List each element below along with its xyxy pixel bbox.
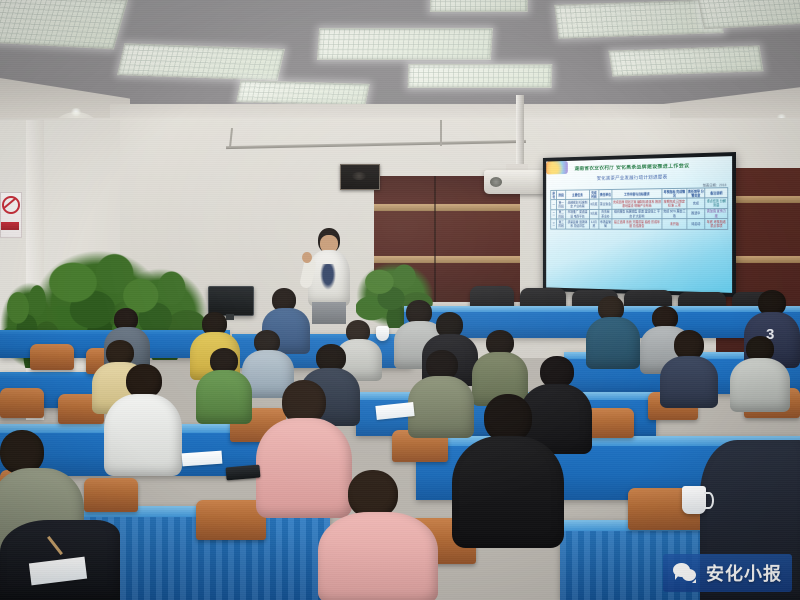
ceiling-light-panel <box>236 80 370 105</box>
slide-table-cell: 推进中 <box>687 209 705 219</box>
slide-subtitle: 安化黑茶产业发展行动计划进度表 <box>597 173 729 182</box>
slide-table-cell: 第一阶段 <box>557 200 566 210</box>
no-smoking-label <box>1 222 19 230</box>
attendee-torso <box>660 356 718 408</box>
attendee-torso <box>196 370 252 424</box>
audience-chair <box>0 388 44 418</box>
slide-table-cell: 完成 60% 展会三场 <box>662 209 687 219</box>
attendee-torso <box>586 317 640 369</box>
wood-trim <box>374 204 520 211</box>
list-item <box>730 336 790 410</box>
projected-slide: 湖南省农业农村厅 安化黑茶品牌建设推进工作会议 安化黑茶产业发展行动计划进度表 … <box>546 156 732 293</box>
attendee-torso <box>730 358 790 412</box>
projection-screen: 湖南省农业农村厅 安化黑茶品牌建设推进工作会议 安化黑茶产业发展行动计划进度表 … <box>543 152 736 297</box>
slide-table-cell: 品牌规划 标准制定 产业布局 <box>566 200 589 210</box>
slide-table-cell: 完成品牌 规划方案 编制标准体系 推进基地建设 明确产业布局 <box>612 199 662 209</box>
ceiling-light-panel <box>317 28 493 60</box>
list-item <box>452 394 564 544</box>
ceiling-light-panel <box>430 0 528 12</box>
slide-table-cell: 年底 考核验收 重点事项 <box>705 219 728 229</box>
slide-title: 湖南省农业农村厅 安化黑茶品牌建设推进工作会议 <box>575 162 729 173</box>
presenter-hand <box>302 252 312 263</box>
presenter-shirt-pattern <box>320 264 336 290</box>
slide-table-cell: 重点任务 分解到县 <box>705 198 728 209</box>
attendee-torso <box>452 436 564 548</box>
attendee-head <box>348 470 398 518</box>
slide-table-cell: 组织展会 拓展销售 渠道 建设线上 平台 扩大影响 <box>612 209 662 219</box>
slide-table-cell: 完成 <box>687 198 705 208</box>
handout-paper <box>182 451 223 467</box>
list-item <box>104 364 182 474</box>
slide-table-cell: 按期完成 已制定标准 三项 <box>662 198 687 208</box>
wood-seam <box>434 176 436 302</box>
audience-chair <box>84 478 138 512</box>
speaker-cone-icon <box>352 172 366 180</box>
slide-table-cell: 9月底 <box>589 209 599 219</box>
slide-table-header-cell: 备注说明 <box>705 188 728 199</box>
ceiling-light-panel <box>117 43 285 81</box>
slide-table-header-cell: 责任领导 分管处室 <box>687 188 705 198</box>
slide-table-header-cell: 工作内容与目标要求 <box>612 189 662 200</box>
watermark: 安化小报 <box>663 554 792 592</box>
slide-table-row: 三第三阶段质量监管 追溯体系 总结评估12月底市场监管局建立追溯 系统 开展质量… <box>551 219 728 229</box>
slide-table-cell: 市场监管局 <box>599 219 612 229</box>
attendee-head <box>126 364 162 398</box>
projector-pole <box>516 95 524 173</box>
list-item <box>660 330 718 406</box>
projector-lens-icon <box>490 177 502 187</box>
attendee-head <box>484 394 532 442</box>
watermark-label: 安化小报 <box>706 560 782 586</box>
attendee-torso <box>318 512 438 600</box>
slide-table-cell: 12月底 <box>589 219 599 229</box>
slide-table-header-cell: 责任单位 <box>599 189 612 199</box>
slide-table-cell: 6月底 <box>589 199 599 209</box>
slide-table-cell: 茶业协会 <box>599 199 612 209</box>
slide-table-header-cell: 阶段 <box>557 190 566 200</box>
ceiling-light-panel <box>697 0 800 29</box>
rail-drop-wire <box>440 120 442 146</box>
ceiling-light-panel <box>608 45 763 76</box>
slide-logo-icon <box>546 161 568 174</box>
slide-table-body: 一第一阶段品牌规划 标准制定 产业布局6月底茶业协会完成品牌 规划方案 编制标准… <box>551 198 728 229</box>
slide-table-cell: 市场推广 渠道建设 电商平台 <box>566 209 589 219</box>
slide-table-cell: 第二阶段 <box>557 209 566 219</box>
coffee-mug <box>682 486 706 514</box>
slide-table-header-cell: 完成时间 <box>589 190 599 200</box>
slide-table-row: 二第二阶段市场推广 渠道建设 电商平台9月底商务局 茶业办组织展会 拓展销售 渠… <box>551 208 728 219</box>
list-item <box>586 296 640 366</box>
slide-table-cell: 待启动 <box>687 219 705 229</box>
slide-table-cell: 第三阶段 <box>557 219 566 229</box>
slide-table-header-cell: 考核指标 完成情况 <box>662 188 687 198</box>
conference-room-photo: 湖南省农业农村厅 安化黑茶品牌建设推进工作会议 安化黑茶产业发展行动计划进度表 … <box>0 0 800 600</box>
audience-chair <box>30 344 74 370</box>
attendee-torso <box>104 394 182 476</box>
list-item <box>196 348 252 422</box>
wechat-icon <box>673 563 699 583</box>
list-item <box>318 470 438 600</box>
coffee-mug-handle <box>704 492 714 509</box>
ceiling-light-panel <box>0 0 128 49</box>
slide-table-cell: 质量监管 追溯体系 总结评估 <box>566 219 589 229</box>
slide-table-cell: 建立追溯 系统 开展质量 抽检 形成年度 总结报告 <box>612 219 662 229</box>
coffee-mug <box>376 326 389 341</box>
slide-table-cell: 商务局 茶业办 <box>599 209 612 219</box>
slide-table-cell: 需加强 宣传力度 <box>705 208 728 218</box>
ceiling-light-panel <box>408 64 553 88</box>
slide-table-header-cell: 主要任务 <box>566 190 589 200</box>
slide-table: 序号阶段主要任务完成时间责任单位工作内容与目标要求考核指标 完成情况责任领导 分… <box>550 187 728 229</box>
slide-table-cell: 未开始 <box>662 219 687 229</box>
